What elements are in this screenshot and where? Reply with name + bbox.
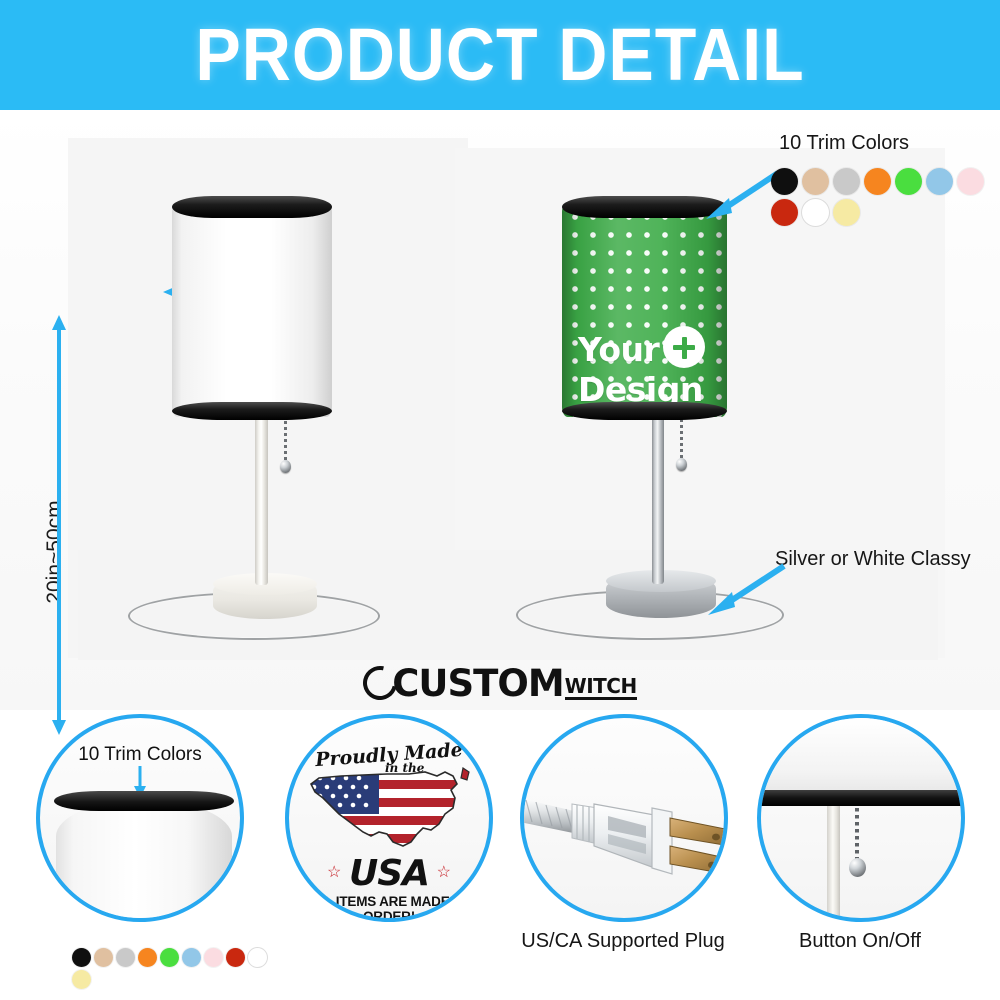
swatch-orange[interactable]: [864, 168, 891, 195]
lamp-pole: [652, 408, 664, 584]
feature-circle: [520, 714, 728, 922]
feature-caption: Button On/Off: [745, 930, 975, 953]
usa-badge: Proudly Made in the: [289, 718, 489, 918]
pull-chain-icon[interactable]: [855, 808, 859, 860]
feature-circle: 10 Trim Colors: [36, 714, 244, 922]
trim-colors-swatch-row: [771, 168, 1000, 226]
brand-name-sub: WITCH: [565, 676, 637, 700]
page-header: PRODUCT DETAIL: [0, 0, 1000, 110]
star-icon: ☆: [437, 862, 451, 882]
lamp-shade: [172, 202, 332, 417]
trim-colors-callout-label: 10 Trim Colors: [779, 132, 909, 155]
power-plug-icon: [520, 746, 728, 916]
swatch-green[interactable]: [160, 948, 179, 967]
swatch-tan[interactable]: [94, 948, 113, 967]
feature-circle: Proudly Made in the: [285, 714, 493, 922]
swatch-light-blue[interactable]: [182, 948, 201, 967]
swatch-pink[interactable]: [204, 948, 223, 967]
white-blank-lamp: [160, 202, 340, 642]
usa-badge-subtitle: ALL ITEMS ARE MADE TO ORDER!: [289, 894, 489, 922]
pull-chain-ball[interactable]: [676, 458, 687, 471]
lamp-pole: [827, 806, 840, 922]
feature-caption: US/CA Supported Plug: [508, 930, 738, 953]
swatch-orange[interactable]: [138, 948, 157, 967]
swatch-red[interactable]: [771, 199, 798, 226]
swatch-black[interactable]: [72, 948, 91, 967]
plus-icon: [663, 326, 705, 368]
trim-colors-inner-label: 10 Trim Colors: [40, 744, 240, 766]
lamp-shade-bottom-trim: [172, 402, 332, 420]
feature-strip: 10 Trim Colors: [0, 706, 1000, 1000]
swatch-light-blue[interactable]: [926, 168, 953, 195]
usa-badge-big: USA: [289, 856, 489, 892]
lamp-shade: Your Design: [562, 202, 727, 417]
lamp-shade-closeup: [757, 718, 965, 796]
lamp-shade-top-trim: [54, 791, 234, 811]
lamp-shade-surface: [172, 202, 332, 417]
swatch-gray[interactable]: [116, 948, 135, 967]
pull-chain-ball[interactable]: [849, 858, 866, 877]
page-title: PRODUCT DETAIL: [40, 16, 960, 94]
feature-circle: [757, 714, 965, 922]
lamp-pole: [255, 410, 268, 585]
pull-chain-ball[interactable]: [280, 460, 291, 473]
showcase-area: 7in~18cm 20in~50cm: [0, 110, 1000, 710]
swatch-gray[interactable]: [833, 168, 860, 195]
usa-map-flag-icon: [305, 762, 477, 854]
base-finish-callout-arrow: [700, 560, 790, 616]
swatch-yellow[interactable]: [72, 970, 91, 989]
lamp-shade-bottom-trim: [757, 790, 965, 806]
swatch-white[interactable]: [248, 948, 267, 967]
swatch-pink[interactable]: [957, 168, 984, 195]
swatch-black[interactable]: [771, 168, 798, 195]
trim-colors-swatch-row-bottom: [72, 948, 272, 989]
lamp-shade-closeup: [56, 800, 232, 922]
swatch-white[interactable]: [802, 199, 829, 226]
lamp-shade-top-trim: [172, 196, 332, 218]
brand-logo: CUSTOM WITCH: [0, 662, 1000, 704]
lamp-shade-bottom-trim: [562, 402, 727, 420]
lamp-shade-surface: Your Design: [562, 202, 727, 417]
swatch-green[interactable]: [895, 168, 922, 195]
swatch-tan[interactable]: [802, 168, 829, 195]
base-finish-callout-label: Silver or White Classy: [775, 548, 971, 571]
brand-name-main: CUSTOM: [392, 665, 563, 702]
swatch-red[interactable]: [226, 948, 245, 967]
swatch-yellow[interactable]: [833, 199, 860, 226]
product-detail-page: PRODUCT DETAIL 7in~18cm 20in~50cm: [0, 0, 1000, 1000]
